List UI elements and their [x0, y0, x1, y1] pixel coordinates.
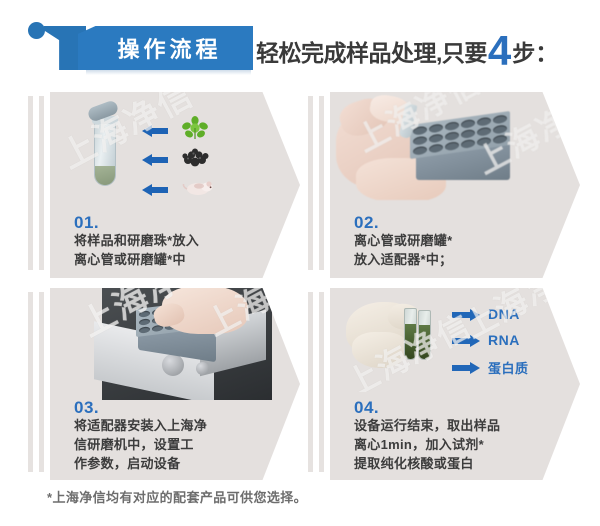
card-accent-bar [319, 292, 324, 472]
output-row-protein: 蛋白质 [452, 358, 529, 377]
arrow-left-icon [142, 154, 168, 165]
output-row-dna: DNA [452, 306, 520, 322]
mouse-icon [182, 178, 214, 200]
ribbon-label: 操作流程 [109, 32, 221, 64]
step-number: 02. [354, 213, 569, 233]
ribbon-banner: 操作流程 [78, 26, 253, 70]
headline-tail-text: 步： [512, 34, 558, 68]
headline-main-text: 轻松完成样品处理,只要 [256, 34, 487, 68]
card-2-photo: 上海净信 上海净信 [330, 92, 580, 200]
arrow-left-icon [142, 184, 168, 195]
output-label-dna: DNA [488, 306, 520, 322]
card-accent-bar [319, 96, 324, 270]
card-3-caption: 03. 将适配器安装入上海净 信研磨机中，设置工 作参数，启动设备 [74, 398, 289, 474]
card-accent-bar [39, 292, 44, 472]
card-chevron-body: DNA RNA 蛋白质 上海净信 上海净信 04. [330, 288, 580, 480]
output-label-rna: RNA [488, 332, 520, 348]
card-accent-bar [308, 292, 313, 472]
ribbon-dot-icon [28, 22, 45, 39]
card-chevron-body: 上海净信 01. 将样品和研磨珠*放入 离心管或研磨罐*中 [50, 92, 300, 278]
arrow-left-icon [142, 125, 168, 136]
infographic-page: 操作流程 轻松完成样品处理,只要 4 步： [0, 0, 600, 526]
step-text-line-2: 离心管或研磨罐*中 [74, 251, 289, 270]
step-card-3: 上海净信 上海净信 03. 将适配器安装入上海净 信研磨机中，设置工 作参数，启… [28, 288, 300, 480]
output-row-rna: RNA [452, 332, 520, 348]
sample-row-mouse [142, 178, 200, 200]
step-text-line-2: 离心1min，加入试剂* [354, 436, 579, 455]
card-4-photo: DNA RNA 蛋白质 上海净信 上海净信 [330, 288, 580, 392]
header: 操作流程 轻松完成样品处理,只要 4 步： [0, 0, 600, 88]
step-text-line-3: 作参数，启动设备 [74, 455, 289, 474]
card-4-caption: 04. 设备运行结束，取出样品 离心1min，加入试剂* 提取纯化核酸或蛋白 [354, 398, 579, 474]
arrow-right-icon [452, 309, 480, 320]
arrow-right-icon [452, 362, 480, 373]
headline-step-count: 4 [488, 34, 511, 68]
step-text-line-2: 信研磨机中，设置工 [74, 436, 289, 455]
card-accent-bar [308, 96, 313, 270]
arrow-right-icon [452, 335, 480, 346]
step-card-4: DNA RNA 蛋白质 上海净信 上海净信 04. [308, 288, 580, 480]
leaf-icon [182, 116, 208, 145]
card-accent-bar [39, 96, 44, 270]
step-text-line-1: 离心管或研磨罐* [354, 232, 569, 251]
card-1-photo: 上海净信 [50, 92, 300, 200]
card-chevron-body: 上海净信 上海净信 02. 离心管或研磨罐* 放入适配器*中； [330, 92, 580, 278]
card-2-caption: 02. 离心管或研磨罐* 放入适配器*中； [354, 213, 569, 270]
sample-vial [418, 310, 431, 360]
grinding-beads-icon [182, 147, 210, 172]
step-card-2: 上海净信 上海净信 02. 离心管或研磨罐* 放入适配器*中； [308, 92, 580, 278]
sample-row-beads [142, 147, 196, 172]
step-number: 01. [74, 213, 289, 233]
step-text-line-1: 将样品和研磨珠*放入 [74, 232, 289, 251]
card-1-caption: 01. 将样品和研磨珠*放入 离心管或研磨罐*中 [74, 213, 289, 270]
card-accent-bar [28, 96, 33, 270]
step-number: 03. [74, 398, 289, 418]
card-3-photo: 上海净信 上海净信 [50, 288, 300, 400]
sample-vial [404, 308, 417, 360]
sample-row-leaf [142, 116, 194, 145]
step-text-line-1: 将适配器安装入上海净 [74, 417, 289, 436]
gloved-hand-image [352, 332, 408, 368]
step-number: 04. [354, 398, 579, 418]
step-card-1: 上海净信 01. 将样品和研磨珠*放入 离心管或研磨罐*中 [28, 92, 300, 278]
headline: 轻松完成样品处理,只要 4 步： [256, 30, 558, 68]
step-text-line-2: 放入适配器*中； [354, 251, 569, 270]
footer-note: *上海净信均有对应的配套产品可供您选择。 [47, 487, 307, 506]
card-chevron-body: 上海净信 上海净信 03. 将适配器安装入上海净 信研磨机中，设置工 作参数，启… [50, 288, 300, 480]
step-text-line-3: 提取纯化核酸或蛋白 [354, 455, 579, 474]
output-label-protein: 蛋白质 [488, 358, 529, 377]
machine-knob [162, 354, 184, 376]
centrifuge-tube-icon [88, 102, 122, 190]
machine-knob [196, 362, 209, 375]
ribbon-shadow [86, 70, 251, 75]
step-text-line-1: 设备运行结束，取出样品 [354, 417, 579, 436]
card-accent-bar [28, 292, 33, 472]
